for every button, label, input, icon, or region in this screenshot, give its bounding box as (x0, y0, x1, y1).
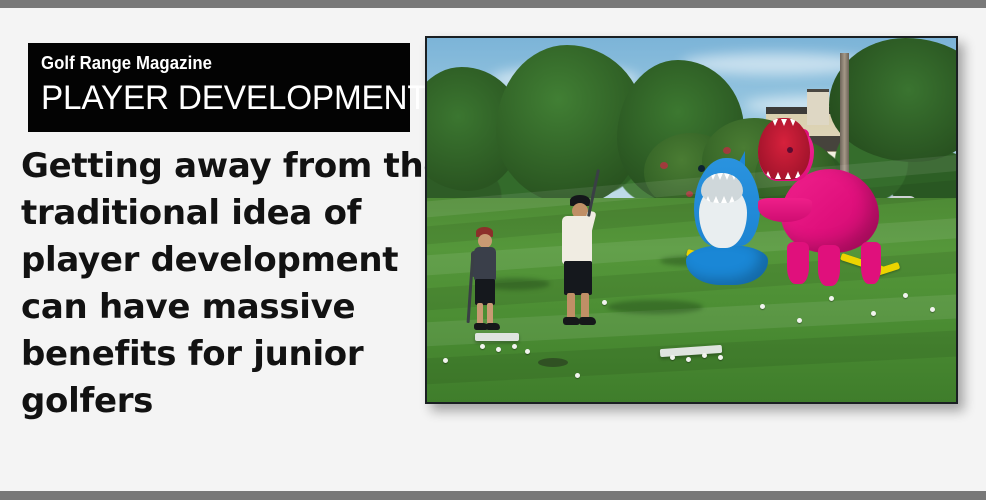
golfer-leg (487, 303, 493, 325)
photo-scene (427, 38, 956, 402)
hippo-tooth (781, 119, 787, 126)
golfer-leg (477, 303, 483, 325)
hippo-tooth (799, 120, 805, 127)
golf-ball (760, 304, 765, 309)
headline-line: traditional idea of (21, 190, 419, 237)
shark-tooth (703, 173, 709, 180)
golfer-shoe (563, 317, 580, 325)
hippo-open-mouth (758, 118, 810, 180)
golfer-shoe (486, 323, 500, 330)
hippo-leg (818, 245, 840, 286)
shark-tooth (729, 196, 735, 203)
junior-golfer-standing (467, 227, 507, 337)
bottom-rule (0, 491, 986, 500)
golf-ball (702, 353, 707, 358)
hippo-tooth (795, 171, 801, 178)
headline-line: player development (21, 237, 419, 284)
shark-tooth (705, 196, 711, 203)
hippo-tooth (763, 119, 769, 126)
hippo-leg (861, 242, 881, 284)
shark-tooth (731, 173, 737, 180)
shark-tooth (724, 173, 730, 180)
page-title: Getting away from the traditional idea o… (21, 143, 419, 425)
hippo-tooth (775, 172, 781, 179)
headline-line: can have massive (21, 284, 419, 331)
ball-tray (475, 333, 519, 341)
golfer-shirt (474, 247, 496, 281)
hippo-tooth (785, 172, 791, 179)
section-banner: Golf Range Magazine PLAYER DEVELOPMENT (28, 43, 410, 132)
hippo-tooth (790, 119, 796, 126)
myrtle-bloom (660, 162, 668, 169)
golfer-head (478, 234, 492, 248)
golfer-shorts (475, 279, 495, 305)
golfer-shorts (564, 261, 592, 295)
headline-line: benefits for junior (21, 331, 419, 378)
golf-club (466, 253, 474, 323)
hippo-eye (787, 147, 793, 153)
golf-ball (602, 300, 607, 305)
ground-shadow (607, 300, 703, 314)
golf-ball (718, 355, 723, 360)
article-photo (425, 36, 958, 404)
golf-ball (930, 307, 935, 312)
golf-ball (575, 373, 580, 378)
golfer-leg (581, 293, 589, 319)
shark-mouth (701, 173, 743, 203)
section-title: PLAYER DEVELOPMENT (41, 74, 403, 122)
shark-tooth (713, 196, 719, 203)
publication-name: Golf Range Magazine (41, 52, 384, 74)
top-rule (0, 0, 986, 8)
headline-line: Getting away from the (21, 143, 419, 190)
junior-golfer-swinging (554, 195, 606, 335)
hippo-leg (787, 242, 809, 284)
headline-line: golfers (21, 378, 419, 425)
shark-tooth (721, 196, 727, 203)
golf-ball (686, 357, 691, 362)
golf-ball (512, 344, 517, 349)
golfer-leg (567, 293, 575, 319)
golf-ball (480, 344, 485, 349)
hippo-tooth (772, 119, 778, 126)
golf-ball (903, 293, 908, 298)
article-card: Golf Range Magazine PLAYER DEVELOPMENT G… (0, 0, 986, 500)
hippo-tooth (765, 171, 771, 178)
shark-tooth (710, 173, 716, 180)
golfer-shoe (579, 317, 596, 325)
shark-tooth (717, 173, 723, 180)
